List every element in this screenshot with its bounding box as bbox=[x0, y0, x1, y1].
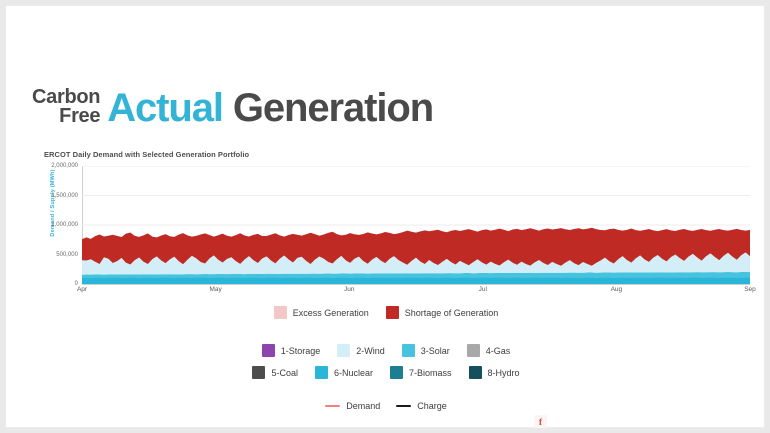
legend-swatch-icon bbox=[469, 366, 482, 379]
chart-header: Carbon Free Actual Generation bbox=[32, 88, 433, 128]
title-accent-text: Actual bbox=[107, 86, 233, 130]
legend-swatch-icon bbox=[467, 344, 480, 357]
x-axis-tick-label: Apr bbox=[77, 286, 87, 293]
title-main-text: Generation bbox=[233, 86, 433, 130]
legend-item[interactable]: 7-Biomass bbox=[390, 366, 452, 379]
legend-lines: DemandCharge bbox=[6, 401, 766, 411]
legend-item-label: 6-Nuclear bbox=[334, 368, 373, 378]
legend-item[interactable]: 6-Nuclear bbox=[315, 366, 373, 379]
legend-item[interactable]: 8-Hydro bbox=[469, 366, 520, 379]
legend-item[interactable]: Shortage of Generation bbox=[386, 306, 499, 319]
legend-swatch-icon bbox=[274, 306, 287, 319]
legend-swatch-icon bbox=[315, 366, 328, 379]
legend-generation-status: Excess GenerationShortage of Generation bbox=[6, 306, 766, 319]
legend-sources-row-1: 1-Storage2-Wind3-Solar4-Gas bbox=[6, 344, 766, 357]
legend-item[interactable]: Demand bbox=[325, 401, 380, 411]
x-axis-tick-label: Sep bbox=[744, 286, 756, 293]
chart-subtitle: ERCOT Daily Demand with Selected Generat… bbox=[44, 150, 249, 159]
legend-swatch-icon bbox=[337, 344, 350, 357]
legend-item[interactable]: 2-Wind bbox=[337, 344, 385, 357]
legend-item-label: Demand bbox=[346, 401, 380, 411]
legend-swatch-icon bbox=[396, 405, 411, 408]
logo-line-carbon: Carbon bbox=[32, 88, 100, 107]
x-axis-line bbox=[82, 284, 750, 285]
y-axis-tick-label: 0 bbox=[18, 281, 78, 287]
legend-item-label: Excess Generation bbox=[293, 308, 369, 318]
legend-item[interactable]: 5-Coal bbox=[252, 366, 298, 379]
legend-swatch-icon bbox=[325, 405, 340, 408]
visualization-card: Carbon Free Actual Generation ERCOT Dail… bbox=[5, 5, 765, 428]
legend-item[interactable]: 1-Storage bbox=[262, 344, 321, 357]
logo-line-free: Free bbox=[59, 107, 100, 126]
y-axis-tick-label: 1,000,000 bbox=[18, 222, 78, 228]
legend-item-label: Shortage of Generation bbox=[405, 308, 499, 318]
legend-item[interactable]: Excess Generation bbox=[274, 306, 369, 319]
legend-swatch-icon bbox=[402, 344, 415, 357]
legend-swatch-icon bbox=[262, 344, 275, 357]
legend-item[interactable]: Charge bbox=[396, 401, 447, 411]
area-series-6-nuclear bbox=[82, 277, 750, 284]
carbon-free-logo: Carbon Free bbox=[32, 88, 100, 128]
legend-item-label: 4-Gas bbox=[486, 346, 511, 356]
page-title: Actual Generation bbox=[107, 88, 433, 128]
legend-item-label: 8-Hydro bbox=[488, 368, 520, 378]
legend-item[interactable]: 4-Gas bbox=[467, 344, 511, 357]
flourish-watermark-icon[interactable]: f bbox=[534, 415, 547, 428]
legend-swatch-icon bbox=[386, 306, 399, 319]
legend-sources-row-2: 5-Coal6-Nuclear7-Biomass8-Hydro bbox=[6, 366, 766, 379]
x-axis-tick-label: May bbox=[209, 286, 221, 293]
legend-swatch-icon bbox=[252, 366, 265, 379]
legend-item-label: 5-Coal bbox=[271, 368, 298, 378]
x-axis-tick-label: Aug bbox=[611, 286, 623, 293]
x-axis-tick-label: Jun bbox=[344, 286, 354, 293]
legend-item-label: Charge bbox=[417, 401, 447, 411]
y-axis-tick-label: 2,000,000 bbox=[18, 163, 78, 169]
x-axis-tick-label: Jul bbox=[479, 286, 487, 293]
y-axis-tick-label: 1,500,000 bbox=[18, 193, 78, 199]
plot-area[interactable] bbox=[82, 166, 750, 284]
y-axis-tick-label: 500,000 bbox=[18, 252, 78, 258]
legend-item[interactable]: 3-Solar bbox=[402, 344, 450, 357]
chart-container: Demand / Supply (MWh) 0500,0001,000,0001… bbox=[44, 166, 750, 291]
legend-swatch-icon bbox=[390, 366, 403, 379]
legend-item-label: 1-Storage bbox=[281, 346, 321, 356]
legend-item-label: 2-Wind bbox=[356, 346, 385, 356]
legend-item-label: 3-Solar bbox=[421, 346, 450, 356]
legend-item-label: 7-Biomass bbox=[409, 368, 452, 378]
